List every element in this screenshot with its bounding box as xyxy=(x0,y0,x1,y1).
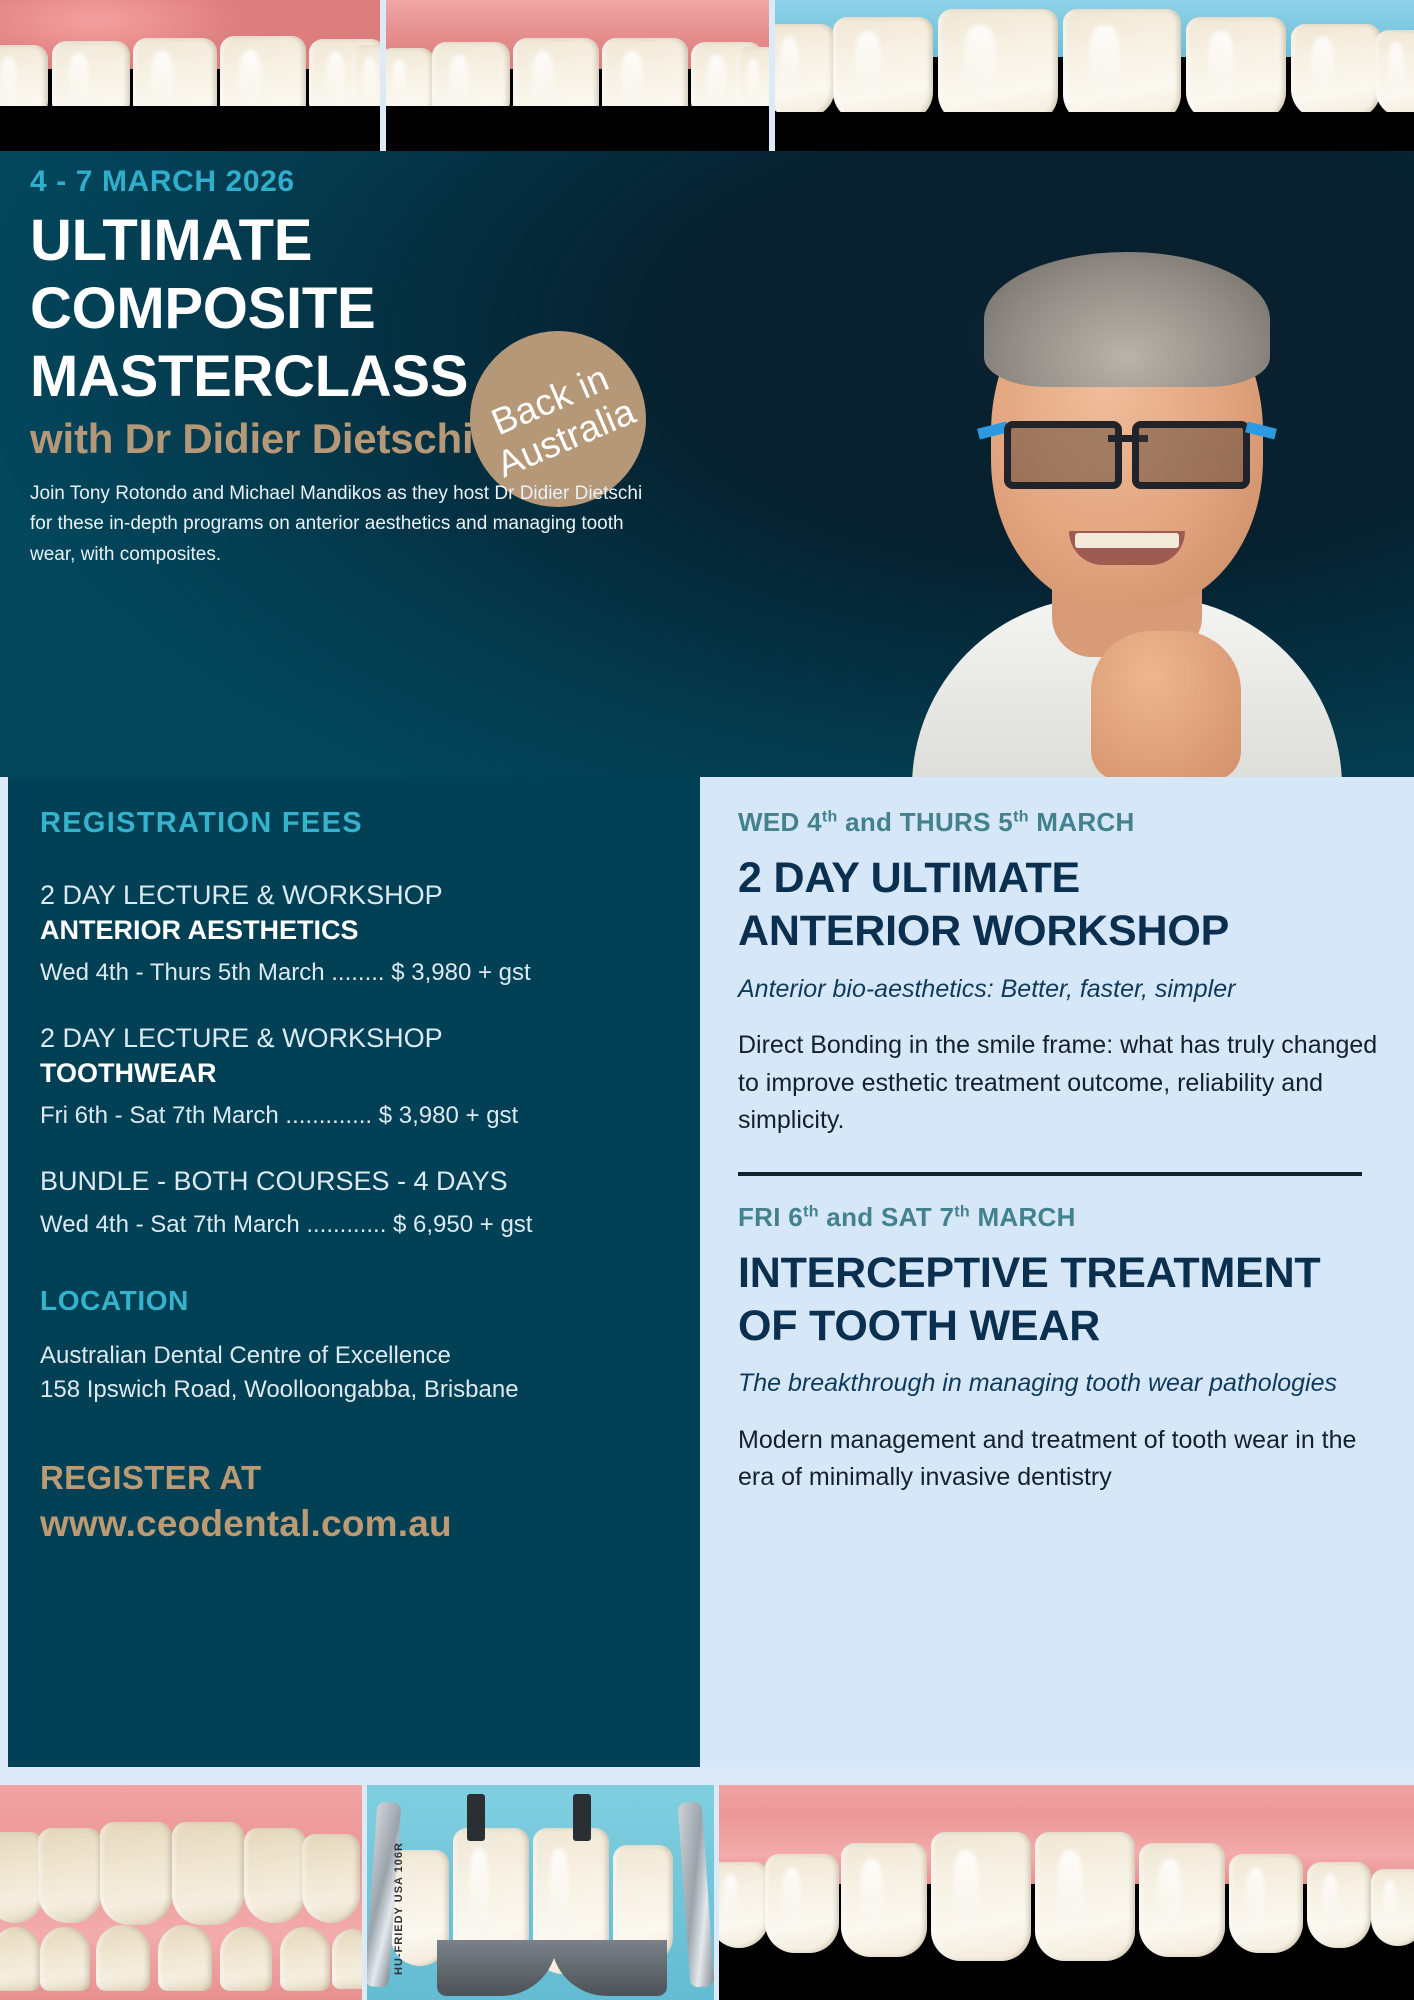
program-body: Direct Bonding in the smile frame: what … xyxy=(738,1027,1388,1140)
registration-panel: REGISTRATION FEES 2 DAY LECTURE & WORKSH… xyxy=(8,777,700,1767)
worn-dentition-photo xyxy=(0,1785,362,2000)
fee-item: 2 DAY LECTURE & WORKSHOP TOOTHWEAR Fri 6… xyxy=(40,1021,666,1130)
title-line-1: ULTIMATE xyxy=(30,207,710,275)
program-tagline: Anterior bio-aesthetics: Better, faster,… xyxy=(738,973,1388,1006)
ordinal-suffix: th xyxy=(954,1203,970,1220)
register-label: REGISTER AT xyxy=(40,1459,666,1497)
fee-price-line: Fri 6th - Sat 7th March ............. $ … xyxy=(40,1102,666,1130)
fee-course-name: ANTERIOR AESTHETICS xyxy=(40,913,666,948)
eyeglasses-icon xyxy=(1004,421,1250,477)
fee-item: 2 DAY LECTURE & WORKSHOP ANTERIOR AESTHE… xyxy=(40,878,666,987)
event-description: Join Tony Rotondo and Michael Mandikos a… xyxy=(30,479,650,571)
anterior-teeth-midway-photo xyxy=(386,0,769,151)
location-address: 158 Ipswich Road, Woolloongabba, Brisban… xyxy=(40,1373,666,1407)
program-date-pre: WED 4 xyxy=(738,807,822,837)
fee-item: BUNDLE - BOTH COURSES - 4 DAYS Wed 4th -… xyxy=(40,1164,666,1239)
ordinal-suffix: th xyxy=(803,1203,819,1220)
fee-course-type: 2 DAY LECTURE & WORKSHOP xyxy=(40,1021,666,1056)
program-title-line-1: INTERCEPTIVE TREATMENT xyxy=(738,1247,1388,1300)
anterior-teeth-isolated-photo xyxy=(775,0,1414,151)
fee-course-type: 2 DAY LECTURE & WORKSHOP xyxy=(40,878,666,913)
program-title-line-2: OF TOOTH WEAR xyxy=(738,1300,1388,1353)
bottom-photo-strip: HU-FRIEDY USA 106R xyxy=(0,1785,1414,2000)
program-block: FRI 6th and SAT 7th MARCH INTERCEPTIVE T… xyxy=(738,1202,1388,1497)
fee-price-line: Wed 4th - Thurs 5th March ........ $ 3,9… xyxy=(40,959,666,987)
section-divider xyxy=(738,1172,1362,1176)
event-date: 4 - 7 MARCH 2026 xyxy=(30,165,710,199)
program-tagline: The breakthrough in managing tooth wear … xyxy=(738,1367,1388,1400)
title-line-2: COMPOSITE xyxy=(30,275,710,343)
ordinal-suffix: th xyxy=(822,808,838,825)
bottom-divider xyxy=(0,1767,1414,1785)
fee-price-line: Wed 4th - Sat 7th March ............ $ 6… xyxy=(40,1211,666,1239)
register-url-link[interactable]: www.ceodental.com.au xyxy=(40,1503,666,1545)
program-block: WED 4th and THURS 5th MARCH 2 DAY ULTIMA… xyxy=(738,807,1388,1140)
program-title-line-2: ANTERIOR WORKSHOP xyxy=(738,905,1388,958)
body-columns: REGISTRATION FEES 2 DAY LECTURE & WORKSH… xyxy=(0,777,1414,1767)
fee-course-type: BUNDLE - BOTH COURSES - 4 DAYS xyxy=(40,1164,666,1199)
ordinal-suffix: th xyxy=(1013,808,1029,825)
presenter-name: with Dr Didier Dietschi xyxy=(30,415,710,463)
clamp-brand-label: HU-FRIEDY USA 106R xyxy=(393,1842,405,1975)
title-line-3: MASTERCLASS xyxy=(30,343,710,411)
rubber-dam-clamp-photo: HU-FRIEDY USA 106R xyxy=(367,1785,715,2000)
header-banner: Back in Australia 4 - 7 MARCH 2026 ULTIM… xyxy=(0,151,1414,777)
program-title-line-1: 2 DAY ULTIMATE xyxy=(738,852,1388,905)
program-date-mid: and SAT 7 xyxy=(819,1202,954,1232)
program-dates: WED 4th and THURS 5th MARCH xyxy=(738,807,1388,838)
location-heading: LOCATION xyxy=(40,1285,666,1317)
program-date-post: MARCH xyxy=(1029,807,1135,837)
programs-panel: WED 4th and THURS 5th MARCH 2 DAY ULTIMA… xyxy=(700,777,1414,1767)
presenter-portrait-photo xyxy=(892,217,1362,777)
top-photo-strip xyxy=(0,0,1414,151)
fee-course-name: TOOTHWEAR xyxy=(40,1056,666,1091)
anterior-teeth-before-photo xyxy=(0,0,380,151)
registration-heading: REGISTRATION FEES xyxy=(40,807,666,840)
program-body: Modern management and treatment of tooth… xyxy=(738,1422,1388,1497)
program-date-pre: FRI 6 xyxy=(738,1202,803,1232)
location-venue: Australian Dental Centre of Excellence xyxy=(40,1339,666,1373)
flyer-page: Back in Australia 4 - 7 MARCH 2026 ULTIM… xyxy=(0,0,1414,2000)
program-date-mid: and THURS 5 xyxy=(838,807,1014,837)
program-dates: FRI 6th and SAT 7th MARCH xyxy=(738,1202,1388,1233)
program-date-post: MARCH xyxy=(970,1202,1076,1232)
restored-smile-photo xyxy=(719,1785,1414,2000)
